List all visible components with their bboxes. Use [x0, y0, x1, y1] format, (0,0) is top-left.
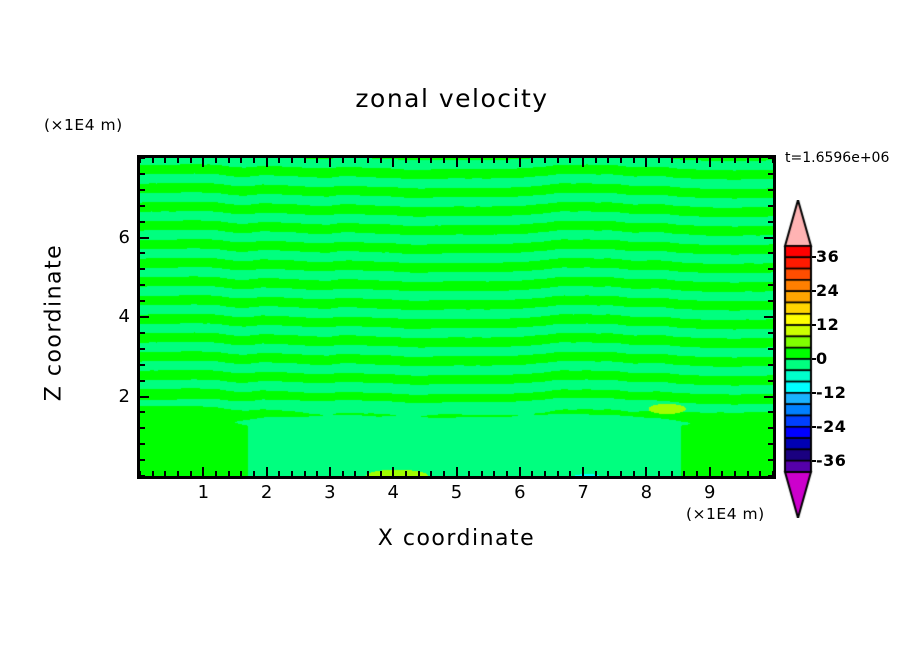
- tick-x-major-top: [582, 158, 584, 167]
- colorbar: [783, 200, 813, 518]
- tick-x-major: [202, 467, 204, 476]
- tick-y-minor: [140, 443, 145, 445]
- tick-x-minor-top: [696, 158, 698, 163]
- tick-x-major-top: [456, 158, 458, 167]
- tick-x-minor-top: [671, 158, 673, 163]
- tick-x-minor: [620, 471, 622, 476]
- tick-x-major-top: [392, 158, 394, 167]
- tick-x-minor: [380, 471, 382, 476]
- contour-plot-area: [137, 155, 776, 479]
- tick-x-minor: [228, 471, 230, 476]
- x-tick-label: 8: [631, 482, 661, 503]
- tick-x-minor-top: [633, 158, 635, 163]
- tick-x-major-top: [266, 158, 268, 167]
- timestamp-annotation: t=1.6596e+06: [785, 150, 889, 166]
- tick-x-minor: [291, 471, 293, 476]
- tick-x-minor: [405, 471, 407, 476]
- tick-x-major-top: [709, 158, 711, 167]
- tick-x-minor: [253, 471, 255, 476]
- tick-y-minor: [140, 268, 145, 270]
- y-tick-label: 6: [100, 227, 130, 248]
- x-tick-label: 1: [188, 482, 218, 503]
- tick-y-minor: [140, 459, 145, 461]
- tick-y-minor-right: [768, 427, 773, 429]
- tick-x-minor: [671, 471, 673, 476]
- tick-x-minor: [278, 471, 280, 476]
- tick-x-minor: [443, 471, 445, 476]
- tick-x-minor: [607, 471, 609, 476]
- colorbar-tick-label: -36: [816, 451, 846, 470]
- tick-y-minor: [140, 364, 145, 366]
- tick-y-major-right: [764, 316, 773, 318]
- tick-x-minor-top: [354, 158, 356, 163]
- colorbar-tick: [812, 392, 816, 394]
- tick-x-minor: [633, 471, 635, 476]
- tick-y-minor-right: [768, 284, 773, 286]
- tick-x-minor-top: [620, 158, 622, 163]
- tick-x-minor: [354, 471, 356, 476]
- tick-x-major: [392, 467, 394, 476]
- tick-x-major: [456, 467, 458, 476]
- tick-x-minor-top: [164, 158, 166, 163]
- tick-y-minor: [140, 348, 145, 350]
- tick-y-minor-right: [768, 189, 773, 191]
- colorbar-tick-label: -12: [816, 383, 846, 402]
- x-tick-label: 5: [442, 482, 472, 503]
- tick-x-major-top: [202, 158, 204, 167]
- tick-y-minor: [140, 300, 145, 302]
- tick-x-minor-top: [658, 158, 660, 163]
- tick-x-minor-top: [380, 158, 382, 163]
- tick-x-minor-top: [468, 158, 470, 163]
- tick-y-minor: [140, 205, 145, 207]
- tick-y-minor-right: [768, 475, 773, 477]
- tick-y-minor: [140, 411, 145, 413]
- tick-x-minor: [569, 471, 571, 476]
- tick-x-minor: [418, 471, 420, 476]
- tick-x-minor-top: [228, 158, 230, 163]
- tick-x-major: [266, 467, 268, 476]
- tick-y-minor: [140, 284, 145, 286]
- y-tick-label: 4: [100, 306, 130, 327]
- tick-x-minor-top: [291, 158, 293, 163]
- tick-y-major: [140, 237, 149, 239]
- tick-y-major-right: [764, 396, 773, 398]
- colorbar-tick: [812, 324, 816, 326]
- tick-x-minor: [544, 471, 546, 476]
- tick-x-minor-top: [493, 158, 495, 163]
- tick-x-minor: [531, 471, 533, 476]
- tick-y-minor-right: [768, 221, 773, 223]
- tick-x-minor-top: [253, 158, 255, 163]
- y-axis-units-label: (×1E4 m): [44, 116, 123, 134]
- x-tick-label: 4: [378, 482, 408, 503]
- colorbar-tick: [812, 426, 816, 428]
- colorbar-tick-label: 12: [816, 315, 839, 334]
- colorbar-tick-label: 24: [816, 281, 839, 300]
- colorbar-tick: [812, 290, 816, 292]
- tick-y-minor-right: [768, 443, 773, 445]
- tick-y-minor-right: [768, 157, 773, 159]
- tick-x-minor: [683, 471, 685, 476]
- tick-y-minor: [140, 332, 145, 334]
- colorbar-tick-label: 36: [816, 247, 839, 266]
- colorbar-tick-label: -24: [816, 417, 846, 436]
- tick-x-minor-top: [342, 158, 344, 163]
- tick-y-minor: [140, 427, 145, 429]
- tick-x-major: [519, 467, 521, 476]
- tick-y-major-right: [764, 237, 773, 239]
- tick-x-minor: [468, 471, 470, 476]
- tick-x-minor-top: [569, 158, 571, 163]
- colorbar-tick-label: 0: [816, 349, 828, 368]
- tick-x-minor: [481, 471, 483, 476]
- x-axis-title: X coordinate: [137, 526, 776, 551]
- tick-x-minor-top: [304, 158, 306, 163]
- tick-y-minor-right: [768, 348, 773, 350]
- tick-x-major: [329, 467, 331, 476]
- tick-y-minor: [140, 475, 145, 477]
- tick-x-minor: [696, 471, 698, 476]
- y-tick-label: 2: [100, 386, 130, 407]
- x-tick-label: 3: [315, 482, 345, 503]
- colorbar-tick: [812, 460, 816, 462]
- tick-x-minor-top: [190, 158, 192, 163]
- tick-y-minor: [140, 173, 145, 175]
- tick-x-minor-top: [152, 158, 154, 163]
- tick-x-minor-top: [734, 158, 736, 163]
- x-tick-label: 6: [505, 482, 535, 503]
- tick-x-minor-top: [177, 158, 179, 163]
- tick-x-minor-top: [418, 158, 420, 163]
- tick-y-minor-right: [768, 364, 773, 366]
- tick-y-minor-right: [768, 252, 773, 254]
- tick-x-minor: [658, 471, 660, 476]
- contour-field: [140, 158, 773, 476]
- tick-y-minor: [140, 252, 145, 254]
- tick-x-major: [645, 467, 647, 476]
- tick-x-minor: [595, 471, 597, 476]
- tick-x-minor: [316, 471, 318, 476]
- tick-x-minor: [164, 471, 166, 476]
- figure-canvas: zonal velocity (×1E4 m) (×1E4 m) t=1.659…: [0, 0, 904, 654]
- tick-x-minor-top: [595, 158, 597, 163]
- tick-x-minor-top: [316, 158, 318, 163]
- tick-y-minor-right: [768, 332, 773, 334]
- tick-y-minor-right: [768, 300, 773, 302]
- tick-x-minor-top: [531, 158, 533, 163]
- colorbar-tick: [812, 358, 816, 360]
- tick-x-minor-top: [278, 158, 280, 163]
- tick-x-minor: [493, 471, 495, 476]
- tick-y-major: [140, 316, 149, 318]
- tick-x-minor-top: [759, 158, 761, 163]
- tick-x-major: [709, 467, 711, 476]
- tick-x-minor: [152, 471, 154, 476]
- tick-x-minor: [759, 471, 761, 476]
- tick-x-minor: [304, 471, 306, 476]
- x-tick-label: 9: [695, 482, 725, 503]
- tick-x-minor: [747, 471, 749, 476]
- page-title: zonal velocity: [0, 84, 904, 113]
- x-tick-label: 2: [252, 482, 282, 503]
- tick-y-major: [140, 396, 149, 398]
- tick-x-minor-top: [481, 158, 483, 163]
- tick-x-minor: [430, 471, 432, 476]
- tick-x-minor: [734, 471, 736, 476]
- tick-x-minor-top: [240, 158, 242, 163]
- tick-y-minor-right: [768, 268, 773, 270]
- tick-x-minor: [177, 471, 179, 476]
- tick-x-minor: [342, 471, 344, 476]
- tick-x-minor-top: [557, 158, 559, 163]
- tick-x-major-top: [519, 158, 521, 167]
- colorbar-tick: [812, 256, 816, 258]
- tick-x-minor: [506, 471, 508, 476]
- x-tick-label: 7: [568, 482, 598, 503]
- tick-x-major: [582, 467, 584, 476]
- tick-y-minor: [140, 189, 145, 191]
- tick-y-minor-right: [768, 380, 773, 382]
- tick-x-major-top: [645, 158, 647, 167]
- tick-x-minor: [557, 471, 559, 476]
- tick-x-minor-top: [747, 158, 749, 163]
- y-axis-title: Z coordinate: [42, 203, 67, 443]
- tick-y-minor-right: [768, 459, 773, 461]
- tick-x-minor-top: [506, 158, 508, 163]
- tick-x-minor-top: [544, 158, 546, 163]
- x-axis-units-label: (×1E4 m): [686, 505, 765, 523]
- tick-x-minor: [240, 471, 242, 476]
- tick-y-minor: [140, 157, 145, 159]
- tick-x-minor-top: [405, 158, 407, 163]
- tick-x-minor-top: [430, 158, 432, 163]
- tick-x-minor-top: [215, 158, 217, 163]
- tick-y-minor-right: [768, 205, 773, 207]
- tick-y-minor-right: [768, 173, 773, 175]
- tick-x-minor: [190, 471, 192, 476]
- tick-x-minor-top: [721, 158, 723, 163]
- tick-y-minor-right: [768, 411, 773, 413]
- tick-y-minor: [140, 221, 145, 223]
- tick-x-major-top: [329, 158, 331, 167]
- tick-x-minor-top: [367, 158, 369, 163]
- colorbar-gradient: [783, 200, 813, 518]
- tick-x-minor: [215, 471, 217, 476]
- tick-x-minor: [721, 471, 723, 476]
- tick-x-minor-top: [443, 158, 445, 163]
- tick-x-minor-top: [607, 158, 609, 163]
- tick-x-minor-top: [683, 158, 685, 163]
- tick-x-minor: [367, 471, 369, 476]
- tick-y-minor: [140, 380, 145, 382]
